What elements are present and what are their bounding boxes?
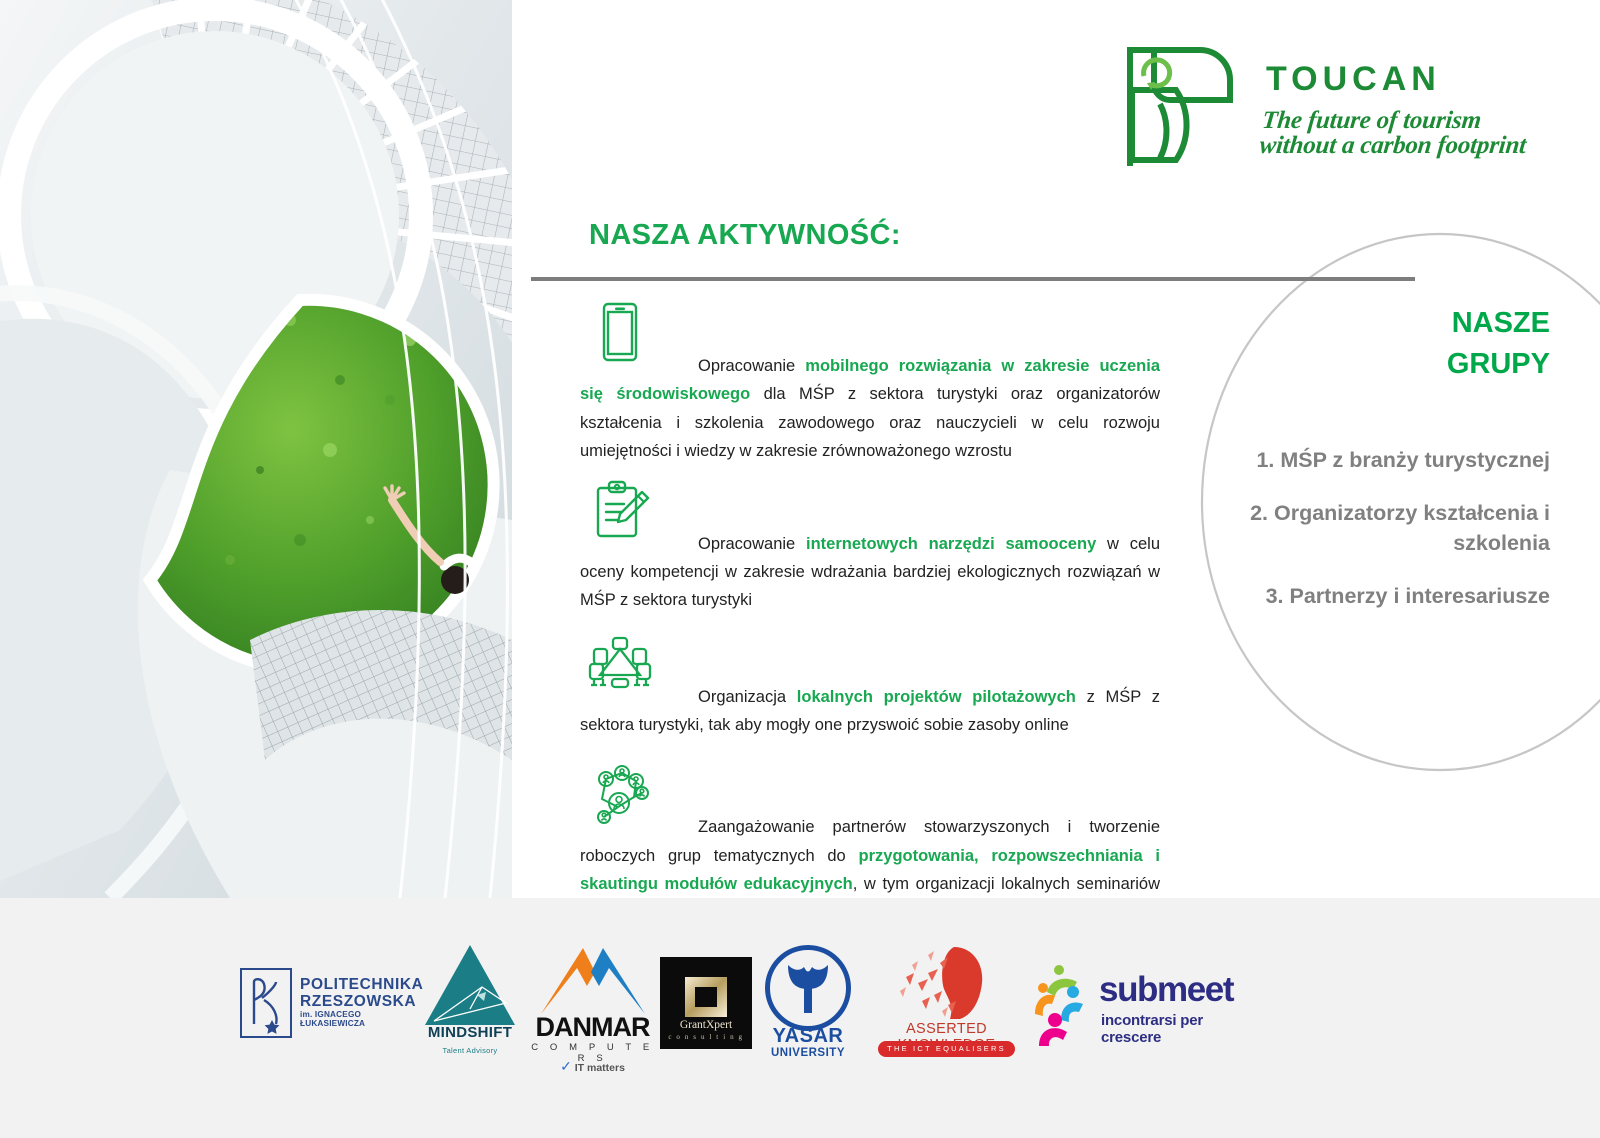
spiral-staircase-photo: [0, 0, 512, 898]
logo-wordmark: TOUCAN: [1266, 60, 1441, 99]
asserted-knowledge-sub: THE ICT EQUALISERS: [878, 1041, 1015, 1057]
yasar-sub: UNIVERSITY: [752, 1047, 864, 1059]
logo-danmar-computers: DANMAR C O M P U T E R S ✓ IT matters: [525, 938, 660, 1068]
politechnika-line3: im. IGNACEGO ŁUKASIEWICZA: [300, 1011, 423, 1029]
group-item-1: 1. MŚP z branży turystycznej: [1160, 445, 1550, 476]
activities-list: Opracowanie mobilnego rozwiązania w zakr…: [580, 300, 1160, 937]
activity-3-p1: lokalnych projektów pilotażowych: [797, 688, 1076, 706]
title-divider: [531, 277, 1415, 281]
asserted-knowledge-bar: THE ICT EQUALISERS: [878, 1041, 1015, 1057]
yasar-tulip-icon: [782, 959, 834, 1013]
groups-list: 1. MŚP z branży turystycznej 2. Organiza…: [1160, 445, 1550, 633]
grantxpert-name: GrantXpert: [660, 1019, 752, 1031]
mindshift-name: MINDSHIFT: [415, 1024, 525, 1041]
logo-submeet: submeet incontrarsi per crescere: [1029, 956, 1244, 1051]
logo-yasar-university: YASAR UNIVERSITY: [752, 943, 864, 1063]
danmar-peaks-icon: [535, 942, 651, 1016]
activity-item-1: Opracowanie mobilnego rozwiązania w zakr…: [580, 300, 1160, 466]
logo-grantxpert: GrantXpert c o n s u l t i n g: [660, 957, 752, 1049]
submeet-name: submeet: [1099, 970, 1233, 1010]
logo-asserted-knowledge: ASSERTED KNOWLEDGE THE ICT EQUALISERS: [864, 943, 1029, 1063]
submeet-sub: incontrarsi per crescere: [1101, 1012, 1244, 1046]
toucan-bird-icon: [1118, 38, 1258, 168]
toucan-logo: TOUCAN The future of tourism without a c…: [1118, 38, 1548, 178]
logo-tagline-line2: without a carbon footprint: [1258, 133, 1551, 158]
submeet-people-icon: [1033, 962, 1099, 1046]
activity-item-2: Opracowanie internetowych narzędzi samoo…: [580, 478, 1160, 615]
checkmark-icon: ✓: [560, 1058, 572, 1074]
groups-title-line1: NASZE: [1190, 303, 1550, 344]
activity-2-p1: internetowych narzędzi samooceny: [806, 535, 1096, 553]
danmar-name: DANMAR: [525, 1012, 660, 1043]
activity-2-p0: Opracowanie: [698, 535, 806, 553]
activity-item-3: Organizacja lokalnych projektów pilotażo…: [580, 631, 1160, 740]
activity-text-1: Opracowanie mobilnego rozwiązania w zakr…: [580, 300, 1160, 466]
group-item-2: 2. Organizatorzy kształcenia i szkolenia: [1160, 498, 1550, 559]
activity-1-p0: Opracowanie: [698, 357, 805, 375]
activity-text-2: Opracowanie internetowych narzędzi samoo…: [580, 478, 1160, 615]
politechnika-line1: POLITECHNIKA: [300, 977, 423, 994]
logo-tagline-line1: The future of tourism: [1261, 108, 1554, 133]
activity-3-p0: Organizacja: [698, 688, 797, 706]
mobile-phone-icon: [588, 300, 652, 364]
clipboard-pencil-icon: [588, 478, 652, 542]
danmar-tagline: ✓ IT matters: [525, 1058, 660, 1075]
grantxpert-g-icon: [683, 975, 729, 1019]
logo-tagline: The future of tourism without a carbon f…: [1258, 108, 1553, 158]
politechnika-crest-icon: [240, 968, 292, 1038]
slide-root: TOUCAN The future of tourism without a c…: [0, 0, 1600, 1138]
asserted-knowledge-face-icon: [892, 943, 1002, 1023]
groups-title-line2: GRUPY: [1190, 344, 1550, 385]
partner-logo-row: POLITECHNIKA RZESZOWSKA im. IGNACEGO ŁUK…: [240, 928, 1340, 1078]
grantxpert-sub: c o n s u l t i n g: [660, 1033, 752, 1041]
partner-logos-footer: POLITECHNIKA RZESZOWSKA im. IGNACEGO ŁUK…: [0, 898, 1600, 1138]
meeting-table-icon: [588, 631, 652, 695]
page-title: NASZA AKTYWNOŚĆ:: [589, 219, 901, 252]
mindshift-glider-icon: [430, 973, 510, 1025]
logo-politechnika-rzeszowska: POLITECHNIKA RZESZOWSKA im. IGNACEGO ŁUK…: [240, 958, 415, 1048]
logo-mindshift: MINDSHIFT Talent Advisory: [415, 943, 525, 1063]
yasar-name: YASAR: [752, 1025, 864, 1048]
network-people-icon: [588, 761, 652, 825]
groups-title: NASZE GRUPY: [1190, 303, 1550, 385]
activity-text-3: Organizacja lokalnych projektów pilotażo…: [580, 631, 1160, 740]
mindshift-sub: Talent Advisory: [415, 1046, 525, 1055]
group-item-3: 3. Partnerzy i interesariusze: [1160, 581, 1550, 612]
politechnika-line2: RZESZOWSKA: [300, 994, 423, 1011]
